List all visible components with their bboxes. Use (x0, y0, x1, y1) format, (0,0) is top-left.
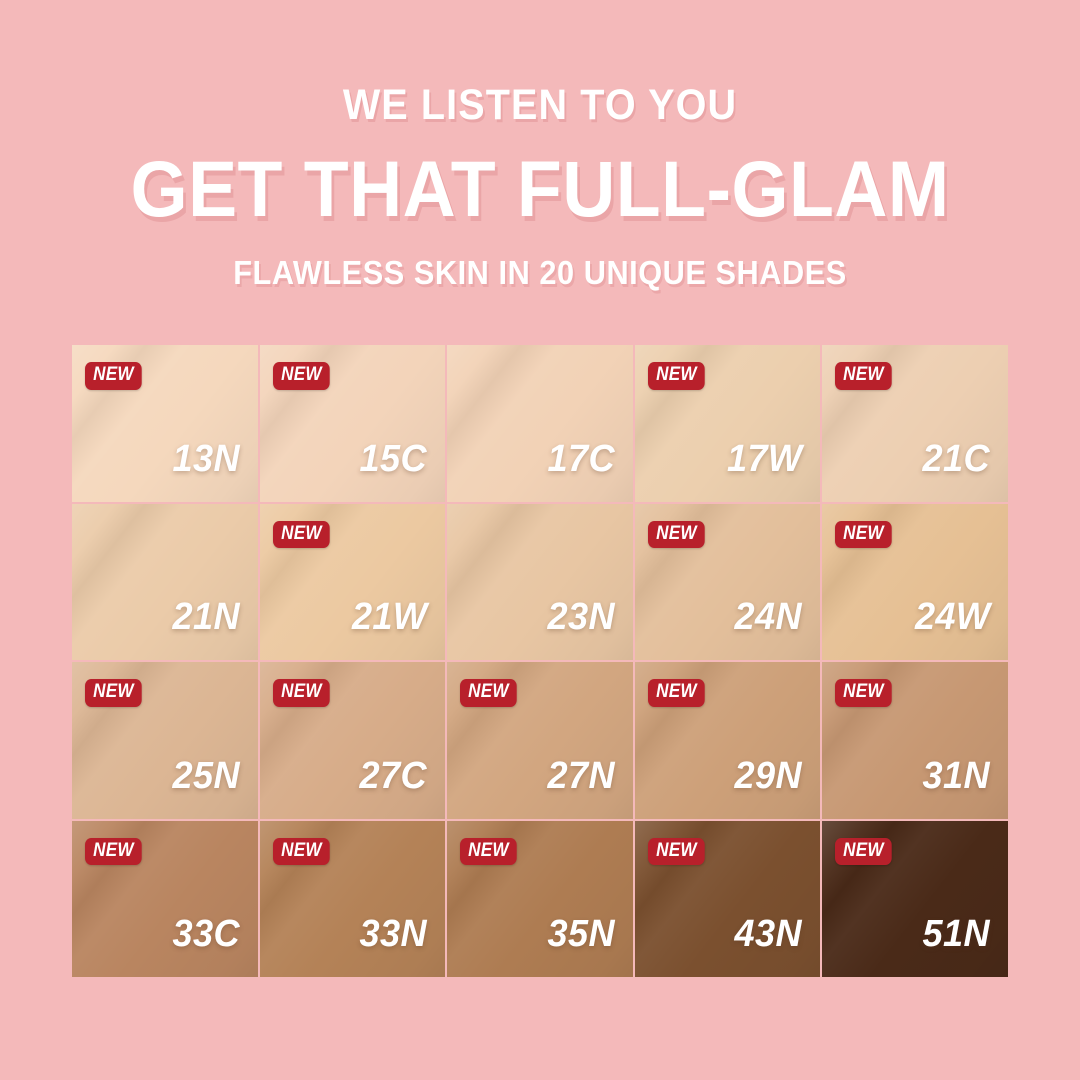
shade-code-label: 27N (547, 757, 614, 795)
header-kicker: WE LISTEN TO YOU (43, 84, 1037, 127)
shade-swatch[interactable]: NEW17W (635, 345, 821, 502)
new-badge: NEW (648, 362, 705, 390)
shade-code-label: 13N (172, 440, 239, 478)
shade-swatch[interactable]: NEW33C (72, 821, 258, 978)
shade-swatch[interactable]: NEW21W (260, 504, 446, 661)
shade-code-label: 27C (360, 757, 427, 795)
shade-swatch[interactable]: NEW21N (72, 504, 258, 661)
promo-header: WE LISTEN TO YOU GET THAT FULL-GLAM FLAW… (0, 0, 1080, 289)
shade-swatch[interactable]: NEW43N (635, 821, 821, 978)
new-badge: NEW (460, 838, 517, 866)
shade-code-label: 21C (923, 440, 990, 478)
new-badge: NEW (273, 838, 330, 866)
shade-code-label: 15C (360, 440, 427, 478)
shade-swatch[interactable]: NEW35N (447, 821, 633, 978)
shade-code-label: 17C (547, 440, 614, 478)
shade-code-label: 51N (923, 915, 990, 953)
shade-code-label: 33C (172, 915, 239, 953)
new-badge: NEW (85, 679, 142, 707)
new-badge: NEW (273, 679, 330, 707)
shade-swatch-grid: NEW13NNEW15CNEW17CNEW17WNEW21CNEW21NNEW2… (72, 345, 1008, 977)
shade-swatch[interactable]: NEW24W (822, 504, 1008, 661)
new-badge: NEW (273, 521, 330, 549)
new-badge: NEW (835, 838, 892, 866)
shade-swatch[interactable]: NEW29N (635, 662, 821, 819)
shade-swatch[interactable]: NEW23N (447, 504, 633, 661)
shade-swatch[interactable]: NEW51N (822, 821, 1008, 978)
shade-code-label: 33N (360, 915, 427, 953)
new-badge: NEW (835, 521, 892, 549)
new-badge: NEW (648, 838, 705, 866)
shade-swatch[interactable]: NEW25N (72, 662, 258, 819)
new-badge: NEW (85, 838, 142, 866)
shade-code-label: 23N (547, 598, 614, 636)
shade-code-label: 43N (735, 915, 802, 953)
shade-swatch[interactable]: NEW24N (635, 504, 821, 661)
header-headline: GET THAT FULL-GLAM (38, 149, 1042, 228)
shade-swatch[interactable]: NEW33N (260, 821, 446, 978)
new-badge: NEW (460, 679, 517, 707)
header-subline: FLAWLESS SKIN IN 20 UNIQUE SHADES (38, 256, 1042, 289)
shade-swatch[interactable]: NEW17C (447, 345, 633, 502)
shade-swatch[interactable]: NEW21C (822, 345, 1008, 502)
new-badge: NEW (648, 679, 705, 707)
shade-swatch[interactable]: NEW27C (260, 662, 446, 819)
new-badge: NEW (835, 362, 892, 390)
shade-code-label: 24W (915, 598, 990, 636)
shade-code-label: 21N (172, 598, 239, 636)
shade-swatch[interactable]: NEW31N (822, 662, 1008, 819)
shade-code-label: 35N (547, 915, 614, 953)
shade-swatch[interactable]: NEW27N (447, 662, 633, 819)
shade-code-label: 21W (352, 598, 427, 636)
shade-code-label: 25N (172, 757, 239, 795)
new-badge: NEW (85, 362, 142, 390)
shade-code-label: 29N (735, 757, 802, 795)
new-badge: NEW (835, 679, 892, 707)
shade-code-label: 24N (735, 598, 802, 636)
new-badge: NEW (648, 521, 705, 549)
shade-swatch[interactable]: NEW15C (260, 345, 446, 502)
shade-swatch[interactable]: NEW13N (72, 345, 258, 502)
new-badge: NEW (273, 362, 330, 390)
shade-code-label: 17W (727, 440, 802, 478)
shade-code-label: 31N (923, 757, 990, 795)
